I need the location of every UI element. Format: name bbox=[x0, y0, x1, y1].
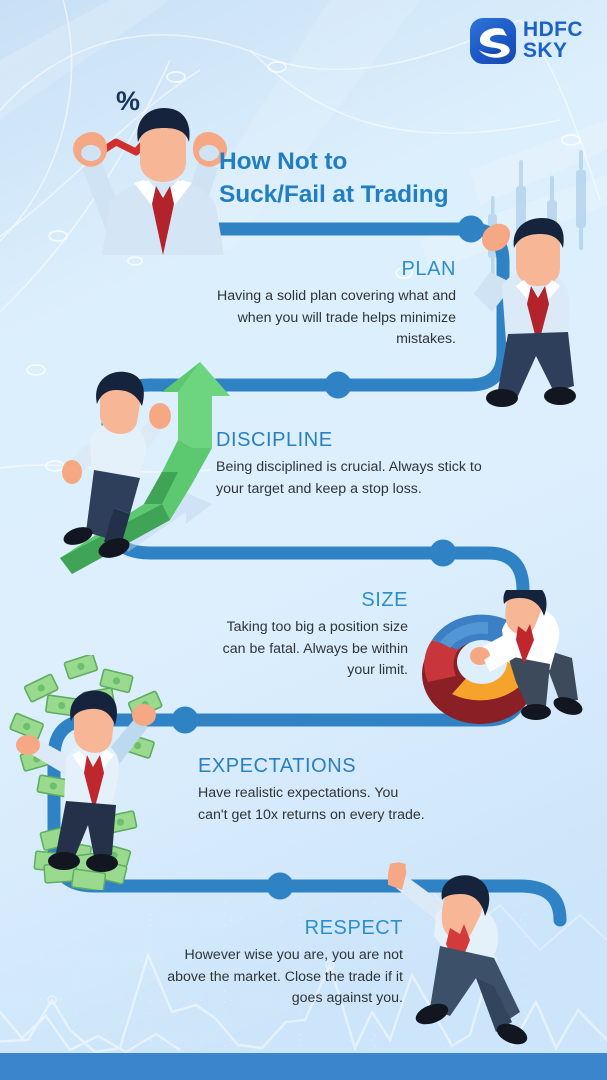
illustration-size-donut-chart bbox=[418, 590, 607, 735]
illustration-expectations-money-man bbox=[8, 655, 188, 890]
step-respect: RESPECT However wise you are, you are no… bbox=[160, 917, 403, 1010]
step-expectations-body: Have realistic expectations. You can't g… bbox=[198, 783, 430, 826]
step-size-body: Taking too big a position size can be fa… bbox=[200, 617, 408, 682]
step-expectations-heading: EXPECTATIONS bbox=[198, 755, 430, 778]
step-plan: PLAN Having a solid plan covering what a… bbox=[212, 258, 456, 351]
step-respect-body: However wise you are, you are not above … bbox=[160, 945, 403, 1010]
brand-logo[interactable]: HDFC SKY bbox=[470, 18, 583, 64]
infographic-canvas: % bbox=[0, 0, 607, 1080]
path-node-2 bbox=[325, 372, 352, 399]
svg-text:%: % bbox=[116, 86, 140, 116]
bottom-bar bbox=[0, 1053, 607, 1080]
brand-wordmark: HDFC SKY bbox=[523, 20, 583, 61]
step-plan-body: Having a solid plan covering what and wh… bbox=[212, 286, 456, 351]
brand-name-line1: HDFC bbox=[523, 20, 583, 41]
path-node-3 bbox=[430, 540, 457, 567]
step-size: SIZE Taking too big a position size can … bbox=[200, 589, 408, 682]
page-title-line2: Suck/Fail at Trading bbox=[219, 179, 489, 212]
brand-name-line2: SKY bbox=[523, 41, 583, 62]
page-title: How Not to Suck/Fail at Trading bbox=[219, 146, 489, 211]
hdfc-sky-swoosh-icon bbox=[470, 18, 516, 64]
step-discipline-body: Being disciplined is crucial. Always sti… bbox=[216, 457, 488, 500]
step-plan-heading: PLAN bbox=[212, 258, 456, 281]
step-expectations: EXPECTATIONS Have realistic expectations… bbox=[198, 755, 430, 826]
step-discipline-heading: DISCIPLINE bbox=[216, 429, 488, 452]
path-node-5 bbox=[267, 873, 294, 900]
step-size-heading: SIZE bbox=[200, 589, 408, 612]
illustration-respect-bent-man bbox=[388, 862, 558, 1052]
illustration-discipline-green-arrow bbox=[52, 352, 242, 574]
page-title-line1: How Not to bbox=[219, 146, 489, 179]
step-respect-heading: RESPECT bbox=[160, 917, 403, 940]
illustration-plan-man-pointing bbox=[462, 200, 607, 415]
step-discipline: DISCIPLINE Being disciplined is crucial.… bbox=[216, 429, 488, 500]
